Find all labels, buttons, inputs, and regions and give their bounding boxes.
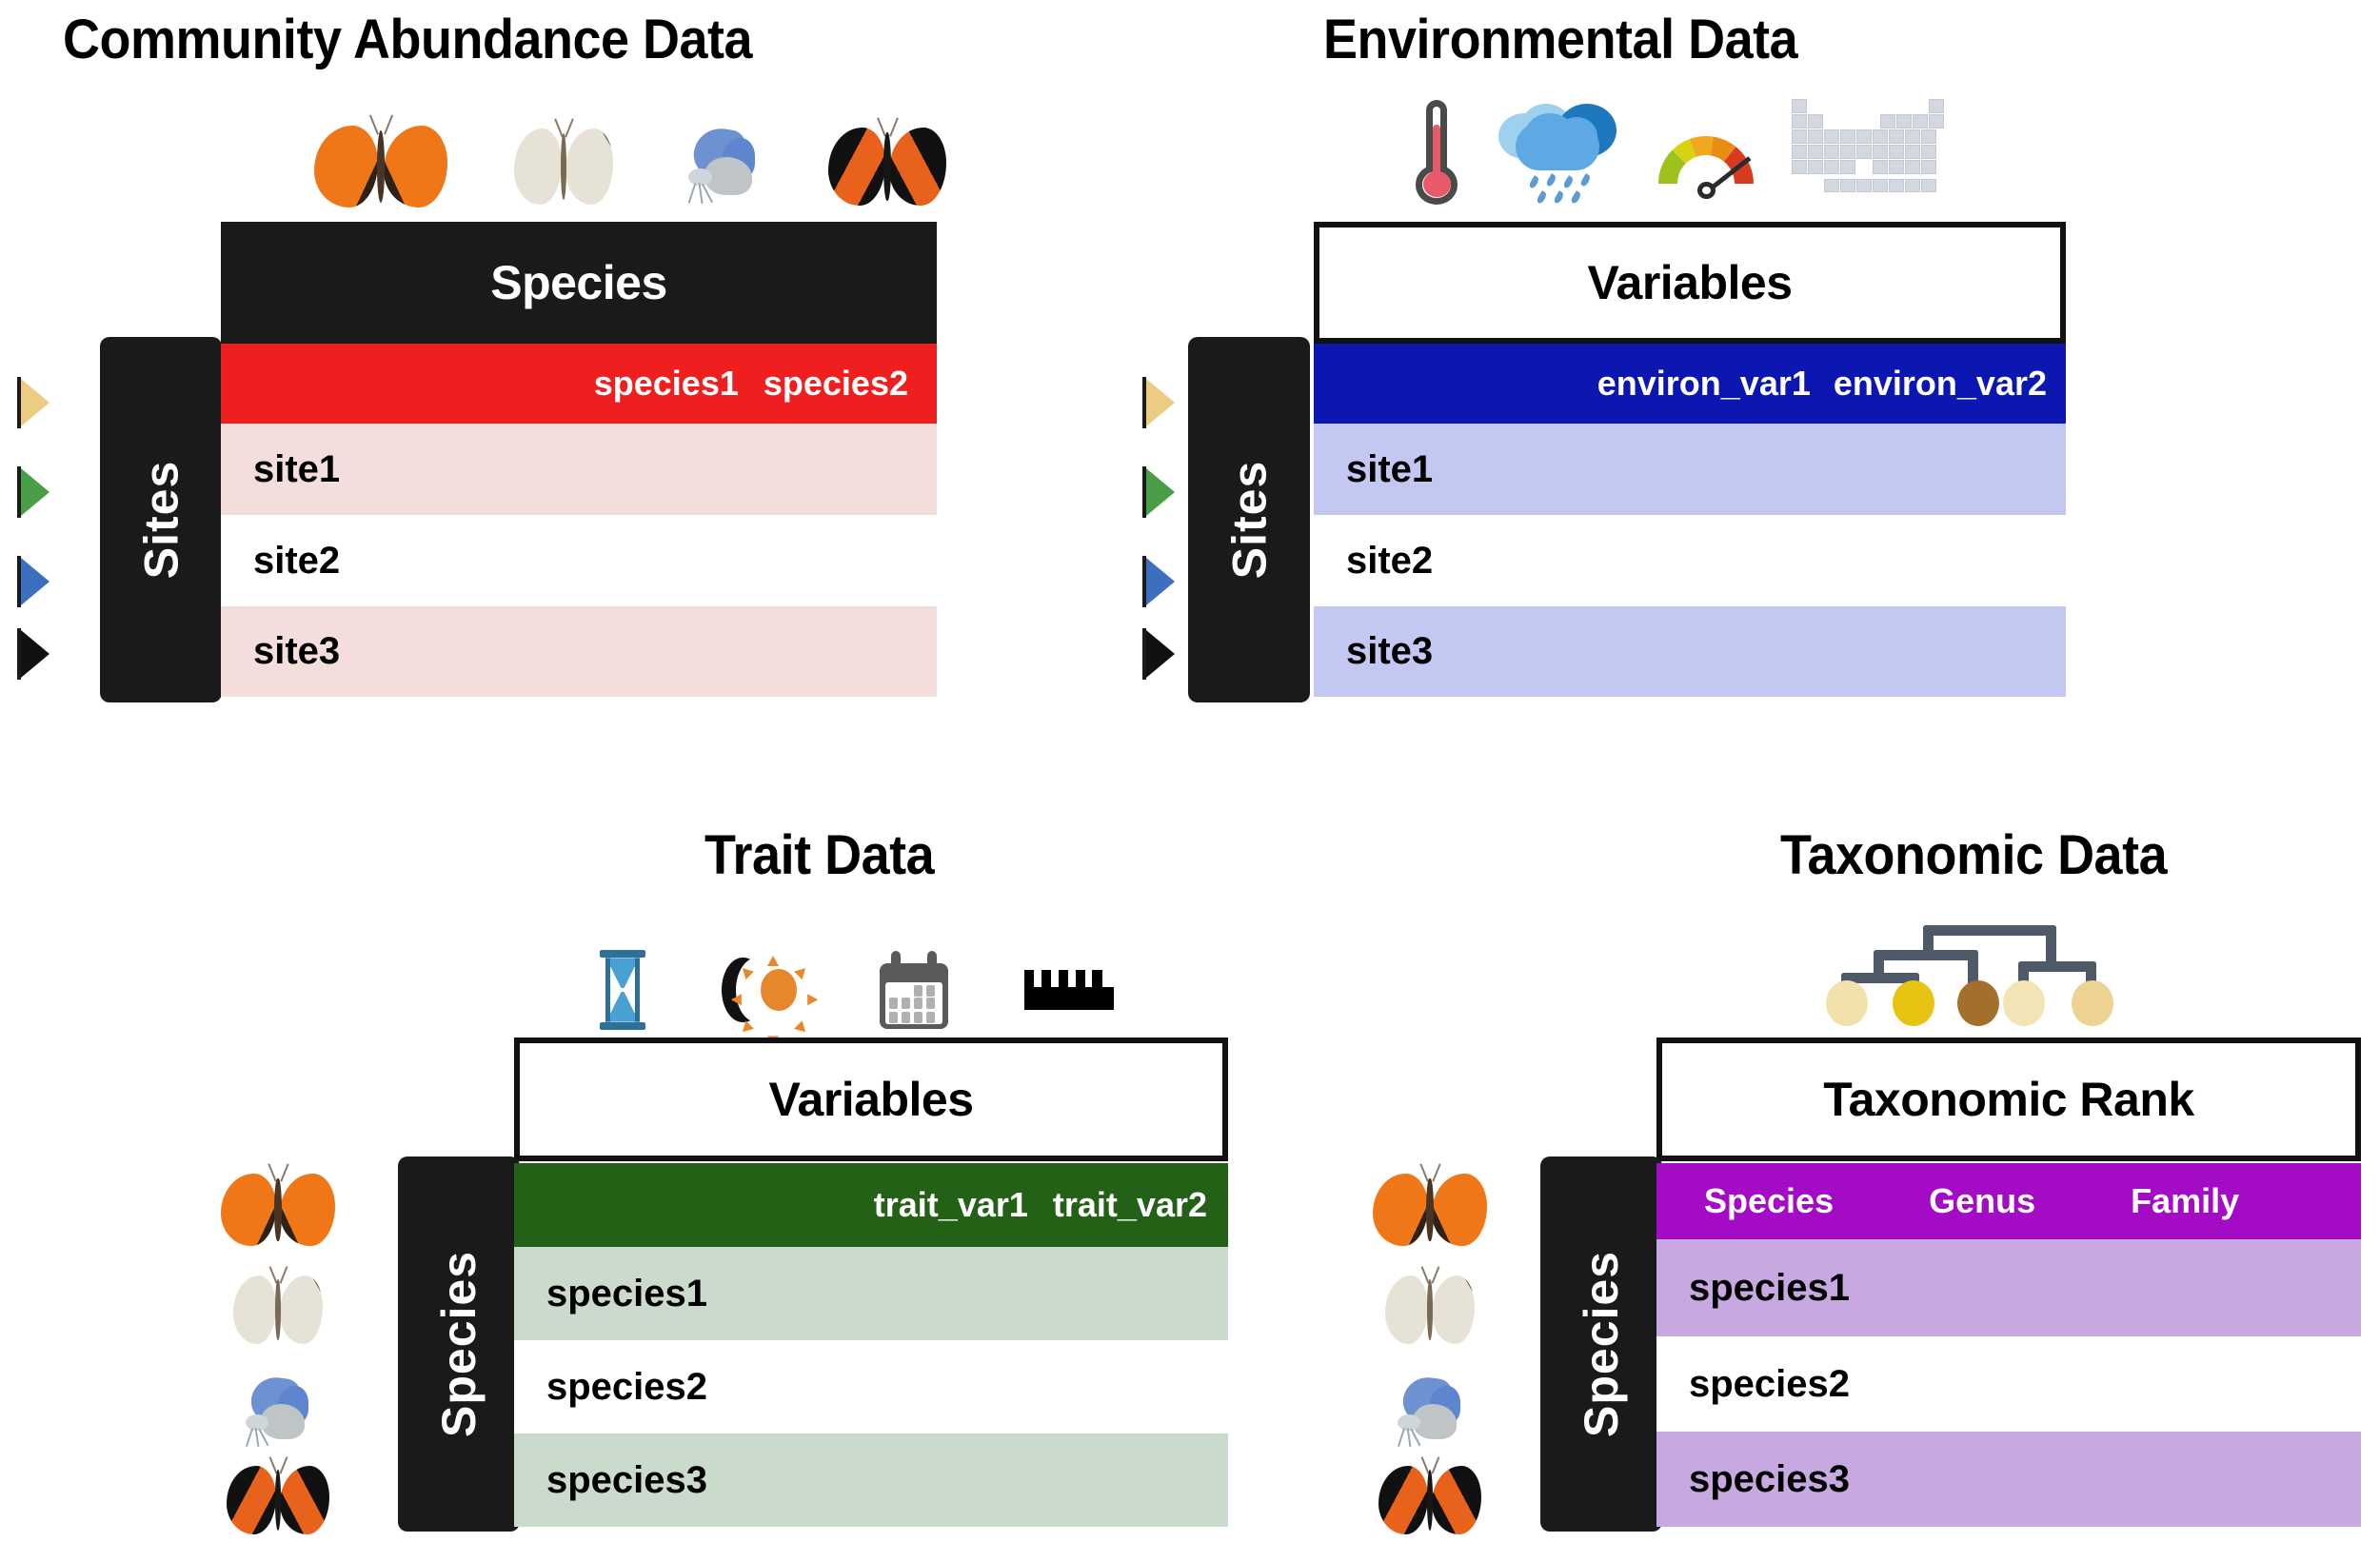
row-label-species1: species1 (1689, 1267, 1850, 1310)
table-row: species3 (514, 1433, 1228, 1527)
butterfly-black-orange-icon (1378, 1466, 1481, 1534)
row-header-label-environmental: Sites (1221, 461, 1277, 580)
rain-cloud-icon (1498, 100, 1620, 205)
row-label-species2: species2 (546, 1366, 707, 1409)
periodic-table-icon (1792, 99, 1944, 206)
butterfly-monarch-icon (1373, 1174, 1487, 1246)
panel-title-taxonomic: Taxonomic Data (1780, 823, 2167, 887)
table-row: site2 (1314, 515, 2066, 606)
marker-arrow-tan (1142, 377, 1177, 433)
phylo-tip (1957, 980, 1999, 1026)
marker-arrow-green (1142, 466, 1177, 523)
table-row: species2 (1656, 1336, 2361, 1432)
table-row: site3 (1314, 606, 2066, 697)
table-row: species1 (1656, 1239, 2361, 1336)
ruler-icon (1024, 970, 1114, 1010)
column-header-taxonomic: Taxonomic Rank (1656, 1038, 2361, 1161)
column-label-species1: species1 (594, 364, 739, 404)
column-label-environ-var1: environ_var1 (1597, 364, 1811, 404)
marker-arrow-tan (17, 377, 51, 433)
marker-arrow-blue (1142, 556, 1177, 612)
table-row: site2 (221, 515, 937, 606)
table-taxonomic: Species Genus Family species1 species2 s… (1656, 1163, 2361, 1527)
table-header-row-environmental: environ_var1 environ_var2 (1314, 344, 2066, 424)
row-label-site3: site3 (253, 630, 340, 673)
phylo-tip (1893, 980, 1934, 1026)
table-environmental: environ_var1 environ_var2 site1 site2 si… (1314, 344, 2066, 697)
hourglass-icon (600, 950, 645, 1030)
marker-arrow-black (17, 628, 51, 684)
table-row: site1 (221, 424, 937, 515)
row-label-site3: site3 (1346, 630, 1433, 673)
icon-strip-environmental-variables (1407, 95, 1940, 209)
row-header-label-community: Sites (133, 461, 188, 580)
row-header-label-trait: Species (431, 1251, 486, 1437)
column-header-community: Species (221, 222, 937, 344)
column-label-family: Family (2131, 1181, 2239, 1221)
column-header-environmental: Variables (1314, 222, 2066, 344)
icon-strip-taxonomic (1816, 909, 2188, 1028)
column-label-species: Species (1704, 1181, 1834, 1221)
table-row: species3 (1656, 1432, 2361, 1527)
table-trait: trait_var1 trait_var2 species1 species2 … (514, 1163, 1228, 1527)
marker-arrow-blue (17, 556, 51, 612)
column-label-species2: species2 (764, 364, 908, 404)
marker-arrow-black (1142, 628, 1177, 684)
row-header-label-taxonomic: Species (1574, 1251, 1629, 1437)
table-header-row-community: species1 species2 (221, 344, 937, 424)
butterfly-blue-icon (1390, 1375, 1466, 1450)
row-label-species1: species1 (546, 1273, 707, 1315)
butterfly-monarch-icon (314, 126, 447, 208)
panel-title-environmental: Environmental Data (1323, 8, 1797, 71)
icon-strip-trait-variables (600, 947, 1057, 1033)
table-row: species2 (514, 1340, 1228, 1433)
phylo-tip (2072, 980, 2113, 1026)
marker-arrow-green (17, 466, 51, 523)
row-label-species2: species2 (1689, 1363, 1850, 1406)
row-header-community: Sites (100, 337, 222, 702)
table-row: site3 (221, 606, 937, 697)
phylo-tip (2003, 980, 2045, 1026)
calendar-icon (880, 951, 948, 1029)
table-header-row-taxonomic: Species Genus Family (1656, 1163, 2361, 1239)
row-label-site1: site1 (1346, 448, 1433, 491)
butterfly-white-icon (1385, 1275, 1475, 1344)
row-label-site2: site2 (1346, 540, 1433, 583)
butterfly-black-orange-icon (828, 128, 946, 206)
row-header-taxonomic: Species (1540, 1156, 1662, 1532)
table-row: site1 (1314, 424, 2066, 515)
butterfly-blue-icon (238, 1375, 314, 1450)
panel-title-trait: Trait Data (704, 823, 934, 887)
column-label-trait-var1: trait_var1 (874, 1185, 1028, 1225)
column-label-genus: Genus (1929, 1181, 2035, 1221)
butterfly-white-icon (233, 1275, 323, 1344)
phylo-tip (1826, 980, 1868, 1026)
row-label-site2: site2 (253, 540, 340, 583)
row-header-environmental: Sites (1188, 337, 1310, 702)
row-label-site1: site1 (253, 448, 340, 491)
column-header-trait: Variables (514, 1038, 1228, 1161)
butterfly-white-icon (514, 128, 613, 205)
column-label-trait-var2: trait_var2 (1053, 1185, 1207, 1225)
table-header-row-trait: trait_var1 trait_var2 (514, 1163, 1228, 1247)
gauge-icon (1653, 102, 1759, 203)
thermometer-icon (1407, 100, 1466, 205)
icon-strip-community-species (314, 114, 847, 219)
table-community: species1 species2 site1 site2 site3 (221, 344, 937, 697)
phylogenetic-tree-icon (1816, 912, 2140, 1026)
row-label-species3: species3 (546, 1459, 707, 1502)
butterfly-blue-icon (680, 127, 762, 207)
row-header-trait: Species (398, 1156, 520, 1532)
panel-title-community: Community Abundance Data (63, 8, 752, 71)
table-row: species1 (514, 1247, 1228, 1340)
figure-canvas: Community Abundance Data (0, 0, 2380, 1542)
row-label-species3: species3 (1689, 1458, 1850, 1501)
moon-sun-icon (722, 953, 803, 1027)
butterfly-monarch-icon (221, 1174, 335, 1246)
butterfly-black-orange-icon (227, 1466, 329, 1534)
column-label-environ-var2: environ_var2 (1834, 364, 2047, 404)
